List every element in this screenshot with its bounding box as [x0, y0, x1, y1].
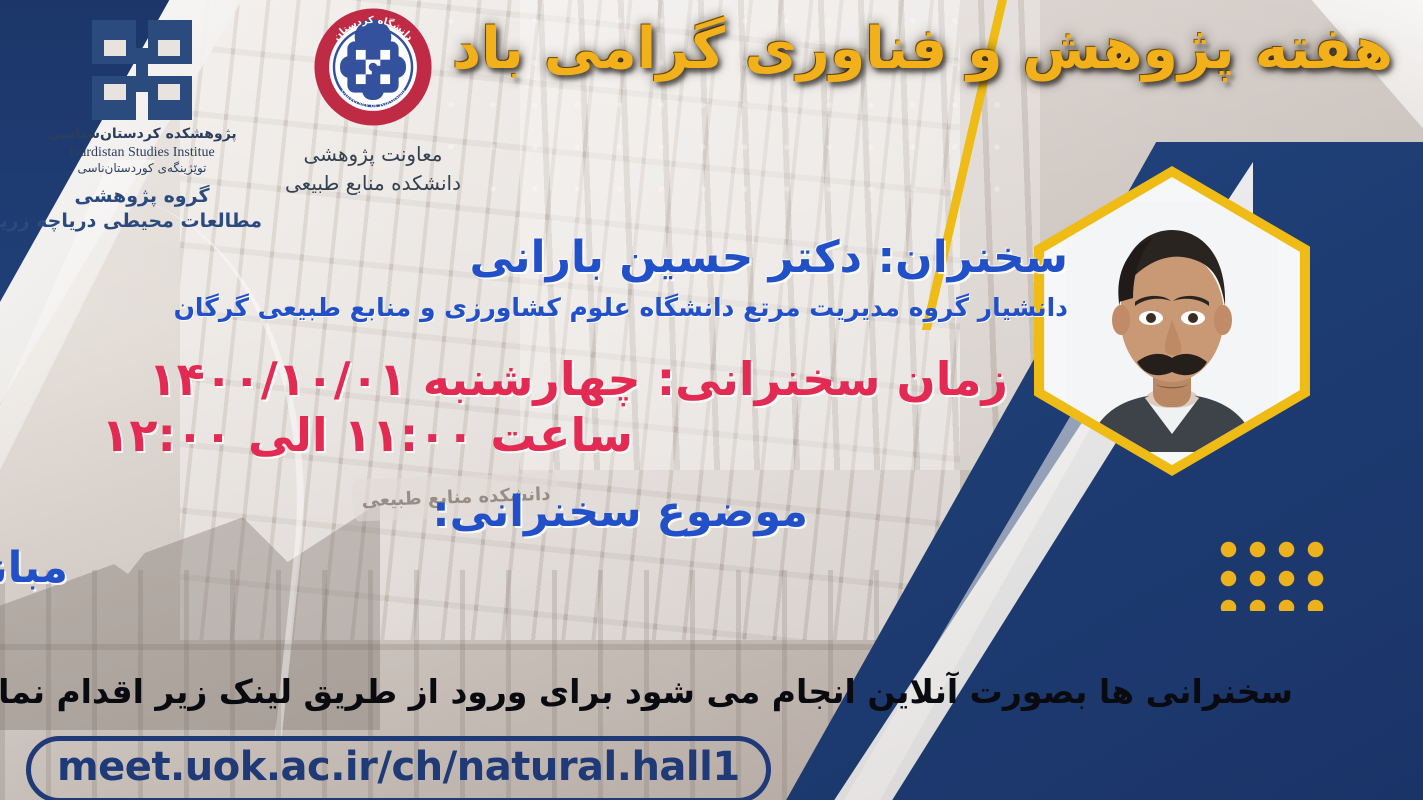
ksi-name-en: Kurdistan Studies Institue: [22, 144, 262, 162]
topic-title: مبانی طب شرقی در استفاده دارویی از گیاها…: [0, 543, 68, 593]
meeting-link-box[interactable]: meet.uok.ac.ir/ch/natural.hall1: [26, 736, 771, 800]
kurdistan-studies-institute-logo-block: پژوهشکده کردستان‌شناسی Kurdistan Studies…: [22, 20, 262, 235]
uok-caption-line2: دانشکده منابع طبیعی: [268, 169, 478, 198]
portrait-hexagon-inner: [1033, 177, 1311, 465]
ksi-research-group-line1: گروه پژوهشی: [22, 184, 262, 210]
yellow-dot-grid-icon: [1212, 533, 1332, 611]
meeting-link-text[interactable]: meet.uok.ac.ir/ch/natural.hall1: [57, 744, 740, 790]
event-time: ساعت ۱۱:۰۰ الی ۱۲:۰۰: [101, 408, 633, 462]
ksi-name-ku: توێژینگەی کوردستان‌ناسی: [22, 161, 262, 177]
page-title: هفته پژوهش و فناوری گرامی باد: [593, 18, 1393, 81]
uok-caption-line1: معاونت پژوهشی: [268, 140, 478, 169]
topic-label: موضوع سخنرانی:: [432, 487, 808, 537]
event-date: زمان سخنرانی: چهارشنبه ۱۴۰۰/۱۰/۰۱: [149, 352, 1008, 406]
university-of-kurdistan-seal-icon: دانشگاه کردستان University of Kurdistan: [312, 6, 434, 128]
speaker-name: سخنران: دکتر حسین بارانی: [469, 232, 1068, 283]
speaker-affiliation: دانشیار گروه مدیریت مرتع دانشگاه علوم کش…: [174, 293, 1068, 322]
online-attendance-note: سخنرانی ها بصورت آنلاین انجام می شود برا…: [0, 672, 1293, 711]
ksi-name-fa: پژوهشکده کردستان‌شناسی: [22, 126, 262, 144]
event-poster: دانشکده منابع طبیعی هفته پژوهش و فناوری …: [0, 0, 1423, 800]
ksi-research-group-line2: مطالعات محیطی دریاچه زریبار: [22, 209, 262, 235]
university-of-kurdistan-logo-block: دانشگاه کردستان University of Kurdistan …: [268, 6, 478, 198]
kurdistan-studies-institute-mark-icon: [92, 20, 192, 120]
speaker-portrait-photo-icon: [1067, 202, 1277, 452]
